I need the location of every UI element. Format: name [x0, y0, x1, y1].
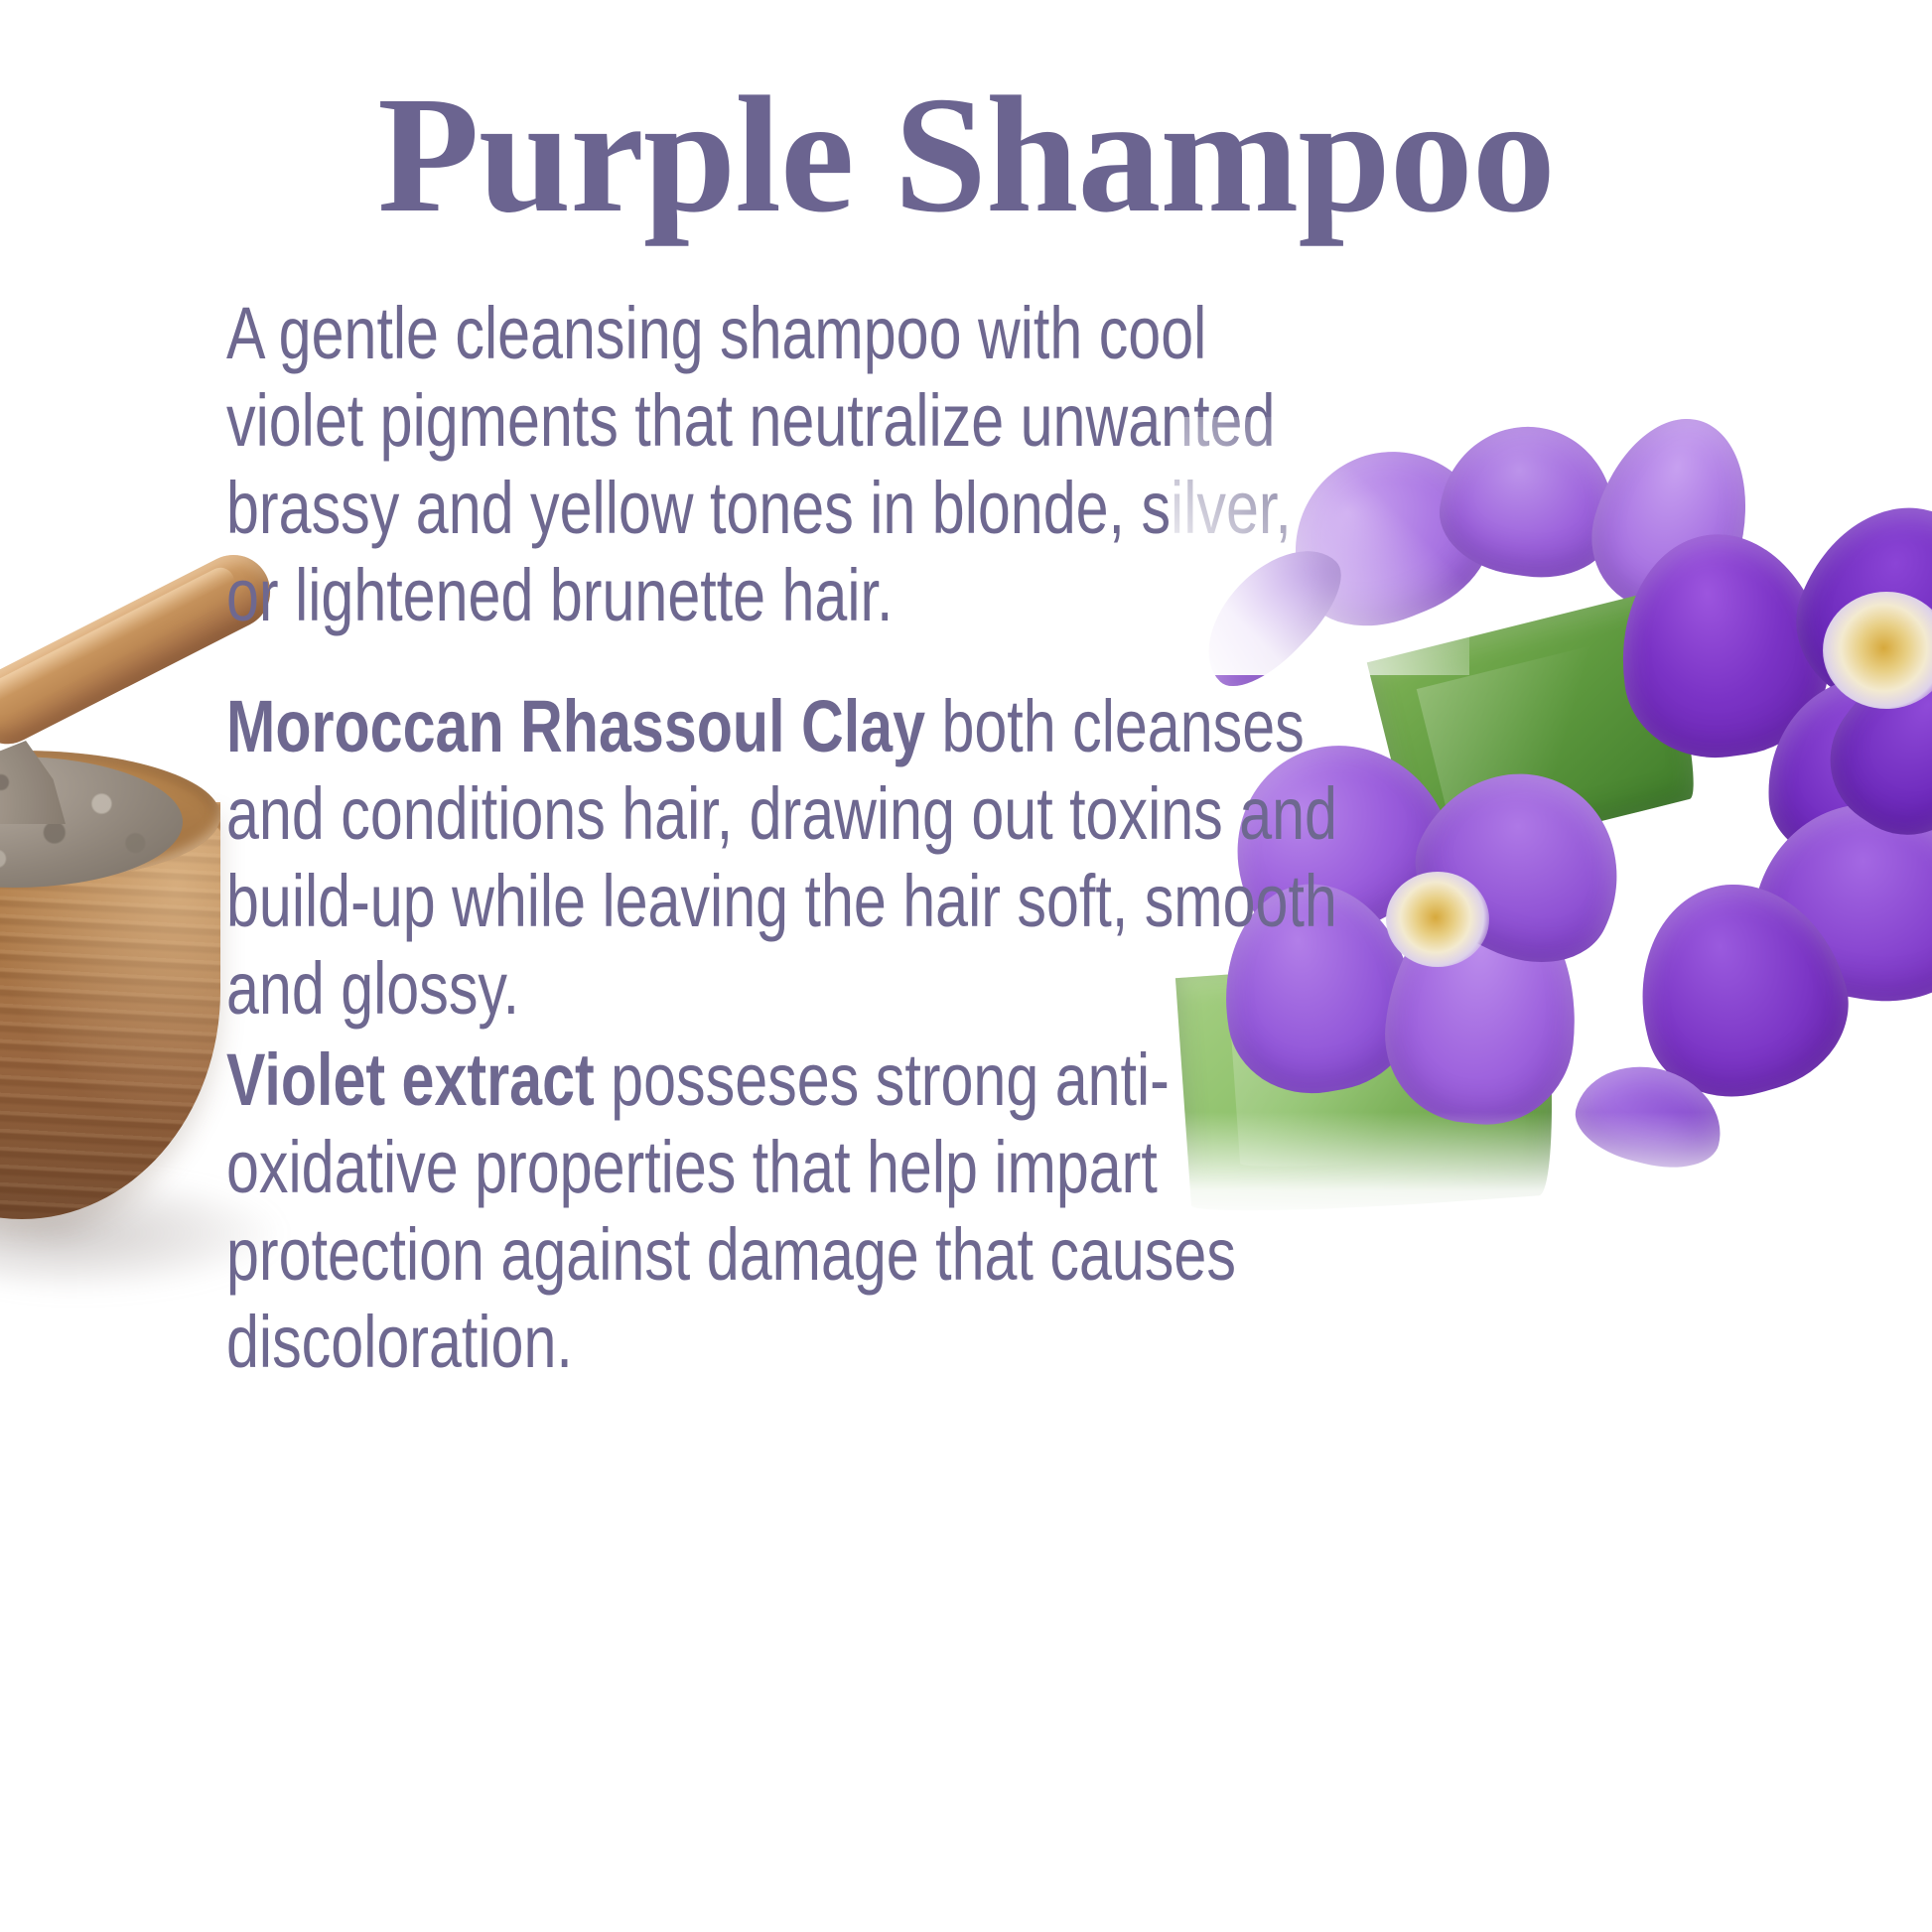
- paragraph-violet-extract: Violet extract posseses strong anti-oxid…: [226, 1036, 1338, 1386]
- paragraph-intro: A gentle cleansing shampoo with cool vio…: [226, 290, 1338, 639]
- ingredient-lead-violet-extract: Violet extract: [226, 1038, 595, 1121]
- violet-floret-eye-left: [1386, 872, 1489, 967]
- product-description: A gentle cleansing shampoo with cool vio…: [226, 290, 1338, 1386]
- ingredient-lead-rhassoul-clay: Moroccan Rhassoul Clay: [226, 685, 925, 767]
- paragraph-intro-text: A gentle cleansing shampoo with cool vio…: [226, 292, 1292, 636]
- paragraph-rhassoul-clay: Moroccan Rhassoul Clay both cleanses and…: [226, 683, 1338, 1033]
- product-infographic: Purple Shampoo: [0, 0, 1932, 1932]
- page-title: Purple Shampoo: [0, 62, 1932, 248]
